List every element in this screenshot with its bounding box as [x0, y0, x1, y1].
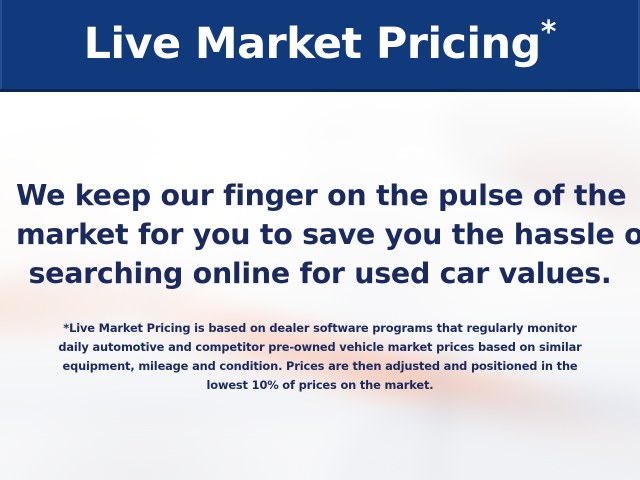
background-bottom-wash	[0, 422, 640, 480]
headline-line-1: We keep our finger on the pulse of the	[16, 176, 624, 215]
headline-line-3: searching online for used car values.	[16, 254, 624, 293]
disclaimer-line-4: lowest 10% of prices on the market.	[28, 376, 612, 395]
disclaimer-text: *Live Market Pricing is based on dealer …	[28, 319, 612, 395]
headline-line-2: market for you to save you the hassle of	[16, 215, 624, 254]
header-band: Live Market Pricing*	[0, 0, 640, 92]
disclaimer-line-1: *Live Market Pricing is based on dealer …	[28, 319, 612, 338]
disclaimer-line-2: daily automotive and competitor pre-owne…	[28, 338, 612, 357]
page-title-asterisk: *	[541, 15, 557, 50]
car-body-panel-shape	[325, 383, 640, 480]
live-market-pricing-banner: Live Market Pricing* We keep our finger …	[0, 0, 640, 480]
page-title-text: Live Market Pricing	[84, 19, 541, 69]
page-title: Live Market Pricing*	[0, 17, 640, 67]
headline: We keep our finger on the pulse of the m…	[16, 176, 624, 293]
disclaimer-line-3: equipment, mileage and condition. Prices…	[28, 357, 612, 376]
